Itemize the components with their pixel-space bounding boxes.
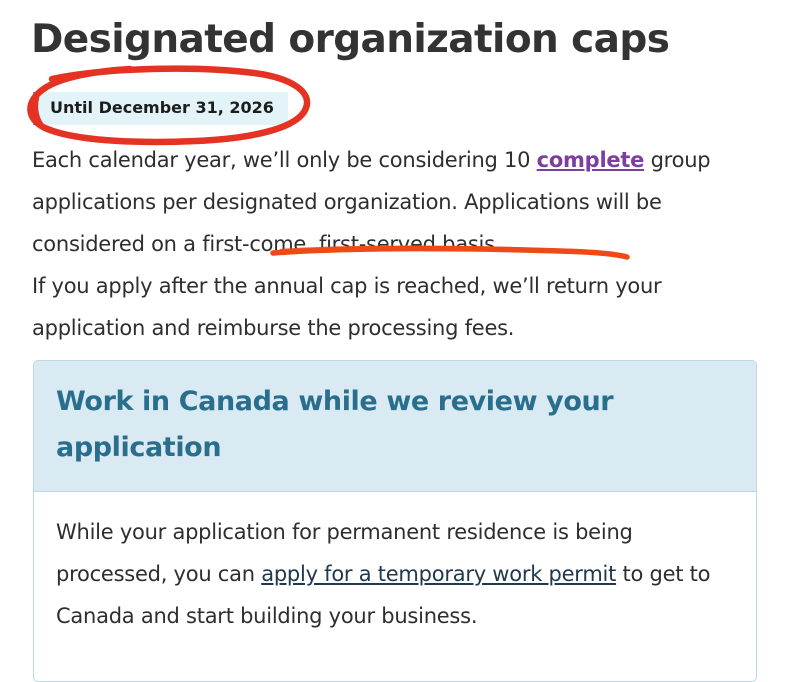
callout-title: Work in Canada while we review your appl… (56, 379, 734, 471)
page-title: Designated organization caps (31, 16, 731, 64)
callout-panel-work-in-canada: Work in Canada while we review your appl… (33, 360, 757, 682)
link-complete[interactable]: complete (537, 148, 645, 172)
paragraph-annual-cap: Each calendar year, we’ll only be consid… (32, 139, 744, 265)
paragraph-cap-reached: If you apply after the annual cap is rea… (32, 265, 744, 349)
callout-header: Work in Canada while we review your appl… (34, 361, 756, 492)
status-badge-valid-until: Until December 31, 2026 (33, 92, 288, 125)
callout-body: While your application for permanent res… (34, 492, 756, 681)
callout-paragraph: While your application for permanent res… (56, 511, 734, 637)
link-apply-temporary-work-permit[interactable]: apply for a temporary work permit (261, 562, 616, 586)
paragraph-text-lead: Each calendar year, we’ll only be consid… (32, 148, 537, 172)
document-page: Designated organization caps Until Decem… (0, 0, 794, 667)
